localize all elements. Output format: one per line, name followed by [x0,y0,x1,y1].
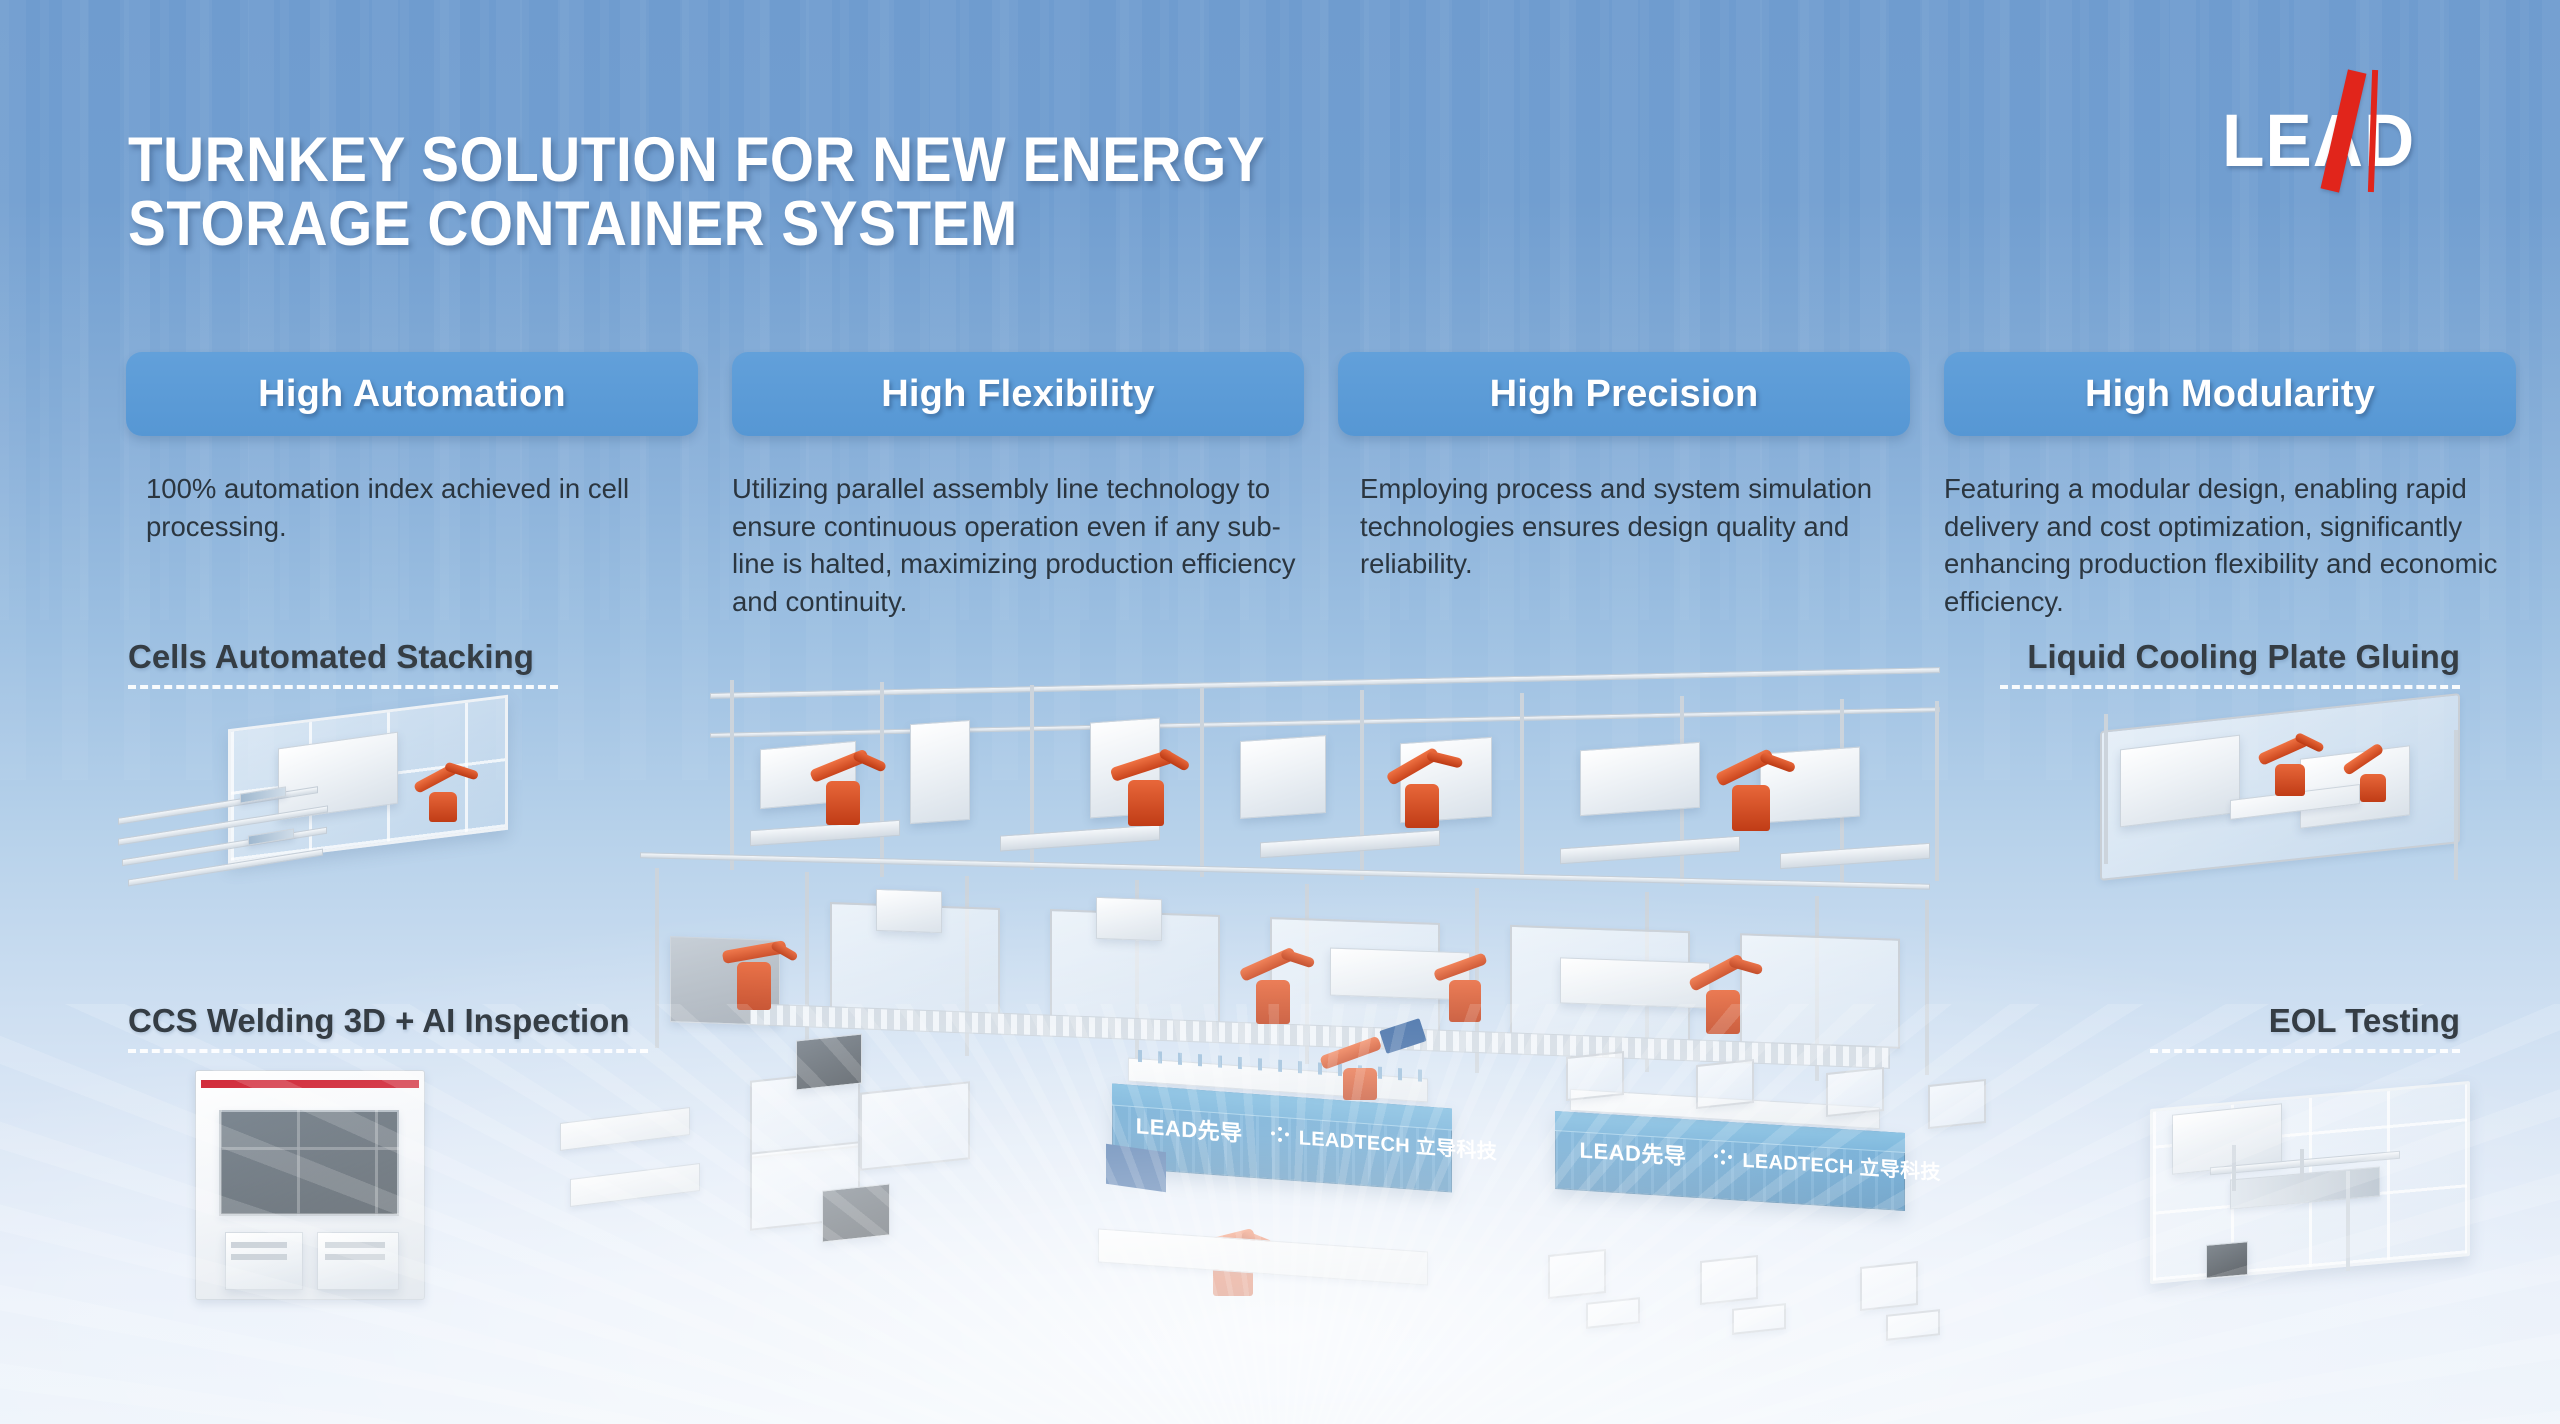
feature-cards: High Automation 100% automation index ac… [0,0,2560,1424]
section-label-text: CCS Welding 3D + AI Inspection [128,1002,648,1040]
section-label-ccs-welding-ai-inspection: CCS Welding 3D + AI Inspection [128,1002,648,1053]
feature-badge-label: High Modularity [2085,373,2375,416]
section-label-text: Cells Automated Stacking [128,638,558,676]
feature-body: Employing process and system simulation … [1338,470,1910,583]
feature-body: 100% automation index achieved in cell p… [126,470,698,545]
feature-badge: High Modularity [1944,352,2516,436]
section-label-text: EOL Testing [2150,1002,2460,1040]
feature-body: Featuring a modular design, enabling rap… [1944,470,2516,621]
feature-badge-label: High Automation [258,373,566,416]
feature-card-high-flexibility: High Flexibility Utilizing parallel asse… [732,352,1304,621]
section-label-underline [2150,1049,2460,1053]
slide-canvas: TURNKEY SOLUTION FOR NEW ENERGY STORAGE … [0,0,2560,1424]
section-label-cells-automated-stacking: Cells Automated Stacking [128,638,558,689]
feature-badge-label: High Flexibility [881,373,1154,416]
feature-card-high-automation: High Automation 100% automation index ac… [126,352,698,545]
section-label-underline [2000,685,2460,689]
section-label-underline [128,1049,648,1053]
feature-badge: High Automation [126,352,698,436]
section-label-liquid-cooling-plate-gluing: Liquid Cooling Plate Gluing [2000,638,2460,689]
feature-card-high-modularity: High Modularity Featuring a modular desi… [1944,352,2516,621]
section-label-underline [128,685,558,689]
feature-badge: High Flexibility [732,352,1304,436]
feature-card-high-precision: High Precision Employing process and sys… [1338,352,1910,583]
section-label-eol-testing: EOL Testing [2150,1002,2460,1053]
feature-badge: High Precision [1338,352,1910,436]
feature-body: Utilizing parallel assembly line technol… [732,470,1304,621]
section-label-text: Liquid Cooling Plate Gluing [2000,638,2460,676]
feature-badge-label: High Precision [1490,373,1759,416]
